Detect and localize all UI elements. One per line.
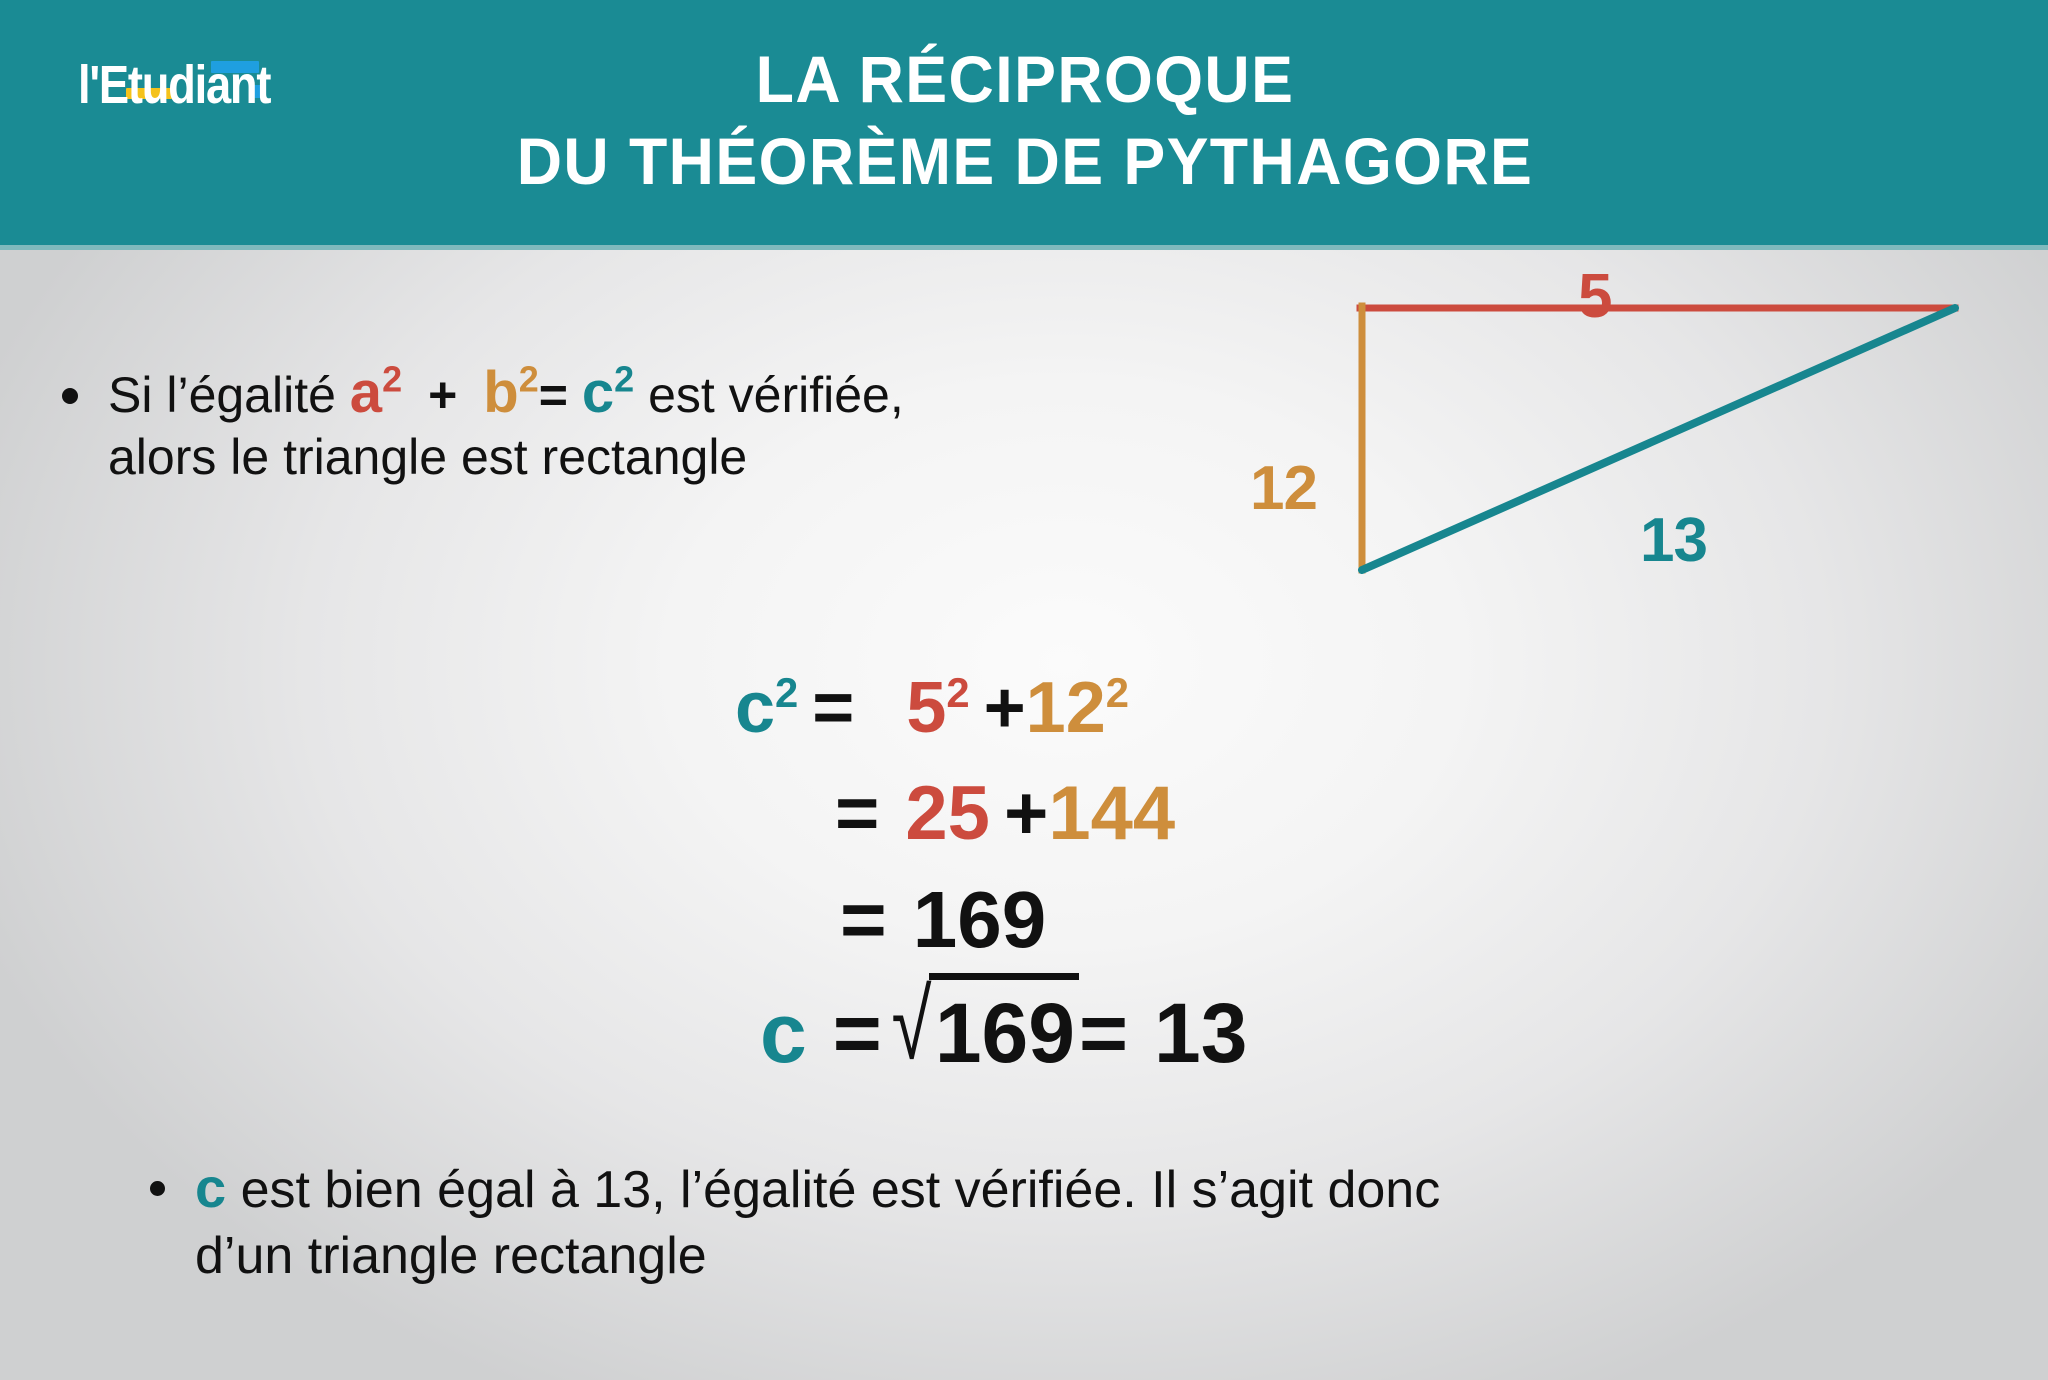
eq4-result: 13 bbox=[1154, 986, 1247, 1080]
bullet-dot-icon bbox=[150, 1181, 165, 1196]
equation-row-1: c2=52+122 bbox=[0, 655, 1400, 761]
bullet-statement-text: Si l’égalité a2+b2=c2 est vérifiée, alor… bbox=[108, 362, 904, 488]
var-b: b2 bbox=[483, 360, 538, 425]
operator-plus: + bbox=[428, 367, 457, 423]
eq2-operator: + bbox=[1004, 771, 1048, 856]
conclusion-var-c: c bbox=[195, 1156, 226, 1219]
triangle-svg bbox=[1240, 280, 2040, 660]
slide-root: l'Etudiant LA RÉCIPROQUE DU THÉORÈME DE … bbox=[0, 0, 2048, 1380]
eq1-operator: + bbox=[984, 668, 1026, 748]
title-line-2: DU THÉORÈME DE PYTHAGORE bbox=[336, 120, 1714, 202]
radical-icon: √ bbox=[891, 964, 931, 1086]
bullet-conclusion-text: c est bien égal à 13, l’égalité est véri… bbox=[195, 1155, 1440, 1289]
operator-equals: = bbox=[539, 367, 568, 423]
triangle-label-top: 5 bbox=[1578, 266, 1611, 328]
eq4-equals-2: = bbox=[1079, 986, 1128, 1080]
square-root-expression: √169 bbox=[882, 973, 1079, 1086]
eq1-lhs: c2 bbox=[735, 668, 798, 748]
radicand: 169 bbox=[929, 973, 1079, 1086]
conclusion-line2: d’un triangle rectangle bbox=[195, 1223, 1440, 1289]
bullet-suffix: est vérifiée, bbox=[634, 367, 904, 423]
eq1-term2: 122 bbox=[1026, 668, 1129, 748]
bullet-prefix: Si l’égalité bbox=[108, 367, 350, 423]
eq2-term1: 25 bbox=[905, 771, 990, 856]
bullet-conclusion: c est bien égal à 13, l’égalité est véri… bbox=[150, 1155, 1950, 1289]
eq1-term1: 52 bbox=[906, 668, 969, 748]
var-a: a2 bbox=[350, 360, 402, 425]
eq3-value: 169 bbox=[913, 875, 1046, 964]
eq4-equals-1: = bbox=[833, 986, 882, 1080]
bullet-statement-line2: alors le triangle est rectangle bbox=[108, 426, 904, 488]
slide-title: LA RÉCIPROQUE DU THÉORÈME DE PYTHAGORE bbox=[300, 38, 1750, 202]
var-c: c2 bbox=[582, 360, 634, 425]
equation-row-4: c=√169=13 bbox=[0, 973, 1400, 1079]
title-line-1: LA RÉCIPROQUE bbox=[336, 38, 1714, 120]
eq4-lhs: c bbox=[760, 986, 807, 1080]
header-bar: l'Etudiant LA RÉCIPROQUE DU THÉORÈME DE … bbox=[0, 0, 2048, 250]
triangle-figure: 5 12 13 bbox=[1240, 280, 2040, 660]
conclusion-line1: est bien égal à 13, l’égalité est vérifi… bbox=[226, 1161, 1440, 1219]
logo-text: l'Etudiant bbox=[78, 55, 270, 115]
triangle-label-left: 12 bbox=[1250, 458, 1317, 520]
header-underline bbox=[0, 245, 2048, 250]
eq2-equals: = bbox=[835, 771, 879, 856]
equation-row-2: =25+144 bbox=[0, 761, 1400, 867]
bullet-statement: Si l’égalité a2+b2=c2 est vérifiée, alor… bbox=[62, 362, 1072, 488]
eq3-equals: = bbox=[840, 875, 887, 964]
letudiant-logo: l'Etudiant bbox=[78, 55, 308, 125]
eq2-term2: 144 bbox=[1048, 771, 1175, 856]
equation-row-3: =169 bbox=[0, 867, 1400, 973]
equation-block: c2=52+122 =25+144 =169 c=√169=13 bbox=[0, 655, 1400, 1079]
eq1-equals: = bbox=[812, 668, 854, 748]
triangle-label-hypotenuse: 13 bbox=[1640, 510, 1707, 572]
bullet-dot-icon bbox=[62, 388, 78, 404]
